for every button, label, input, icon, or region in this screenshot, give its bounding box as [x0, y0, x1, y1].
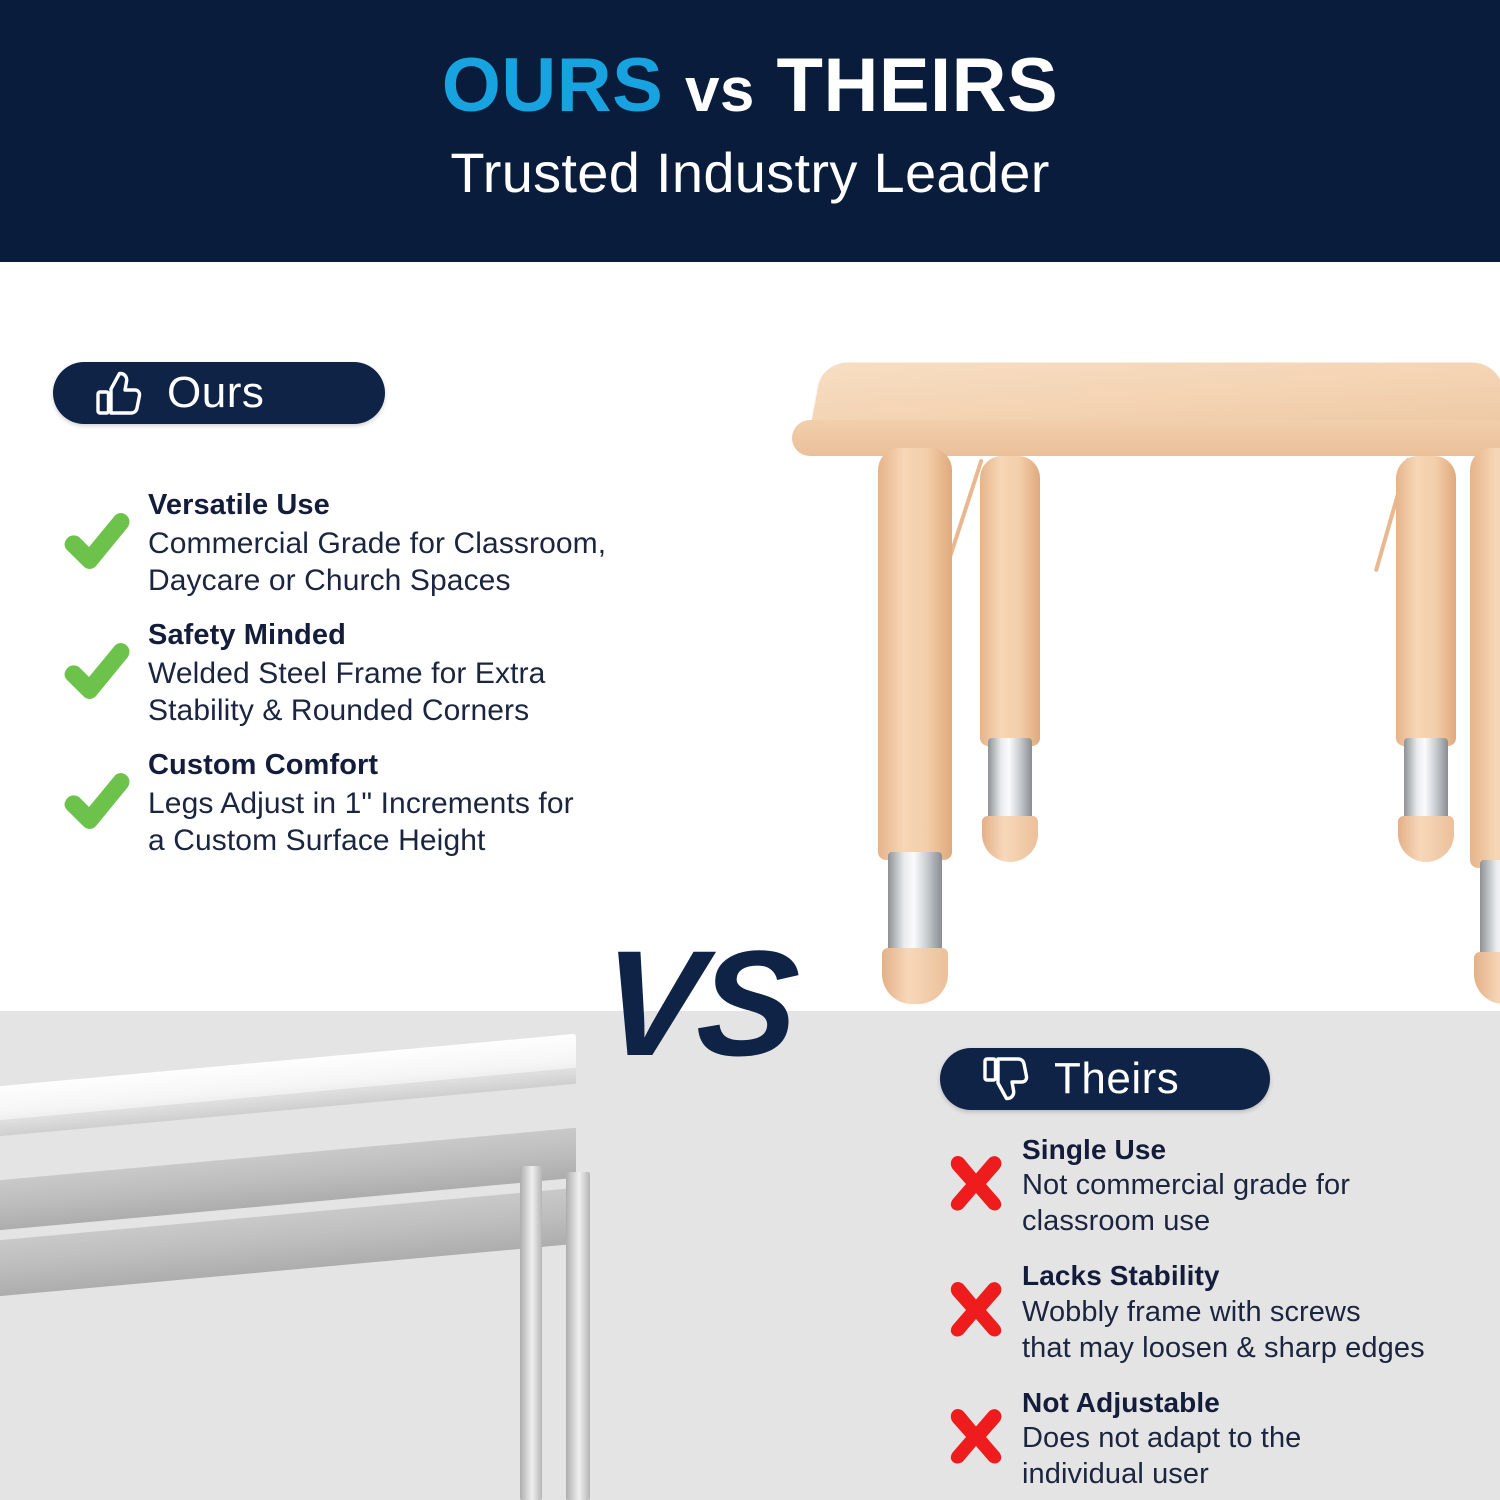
- theirs-feature-list: Single Use Not commercial grade for clas…: [930, 1132, 1490, 1500]
- ours-leg-chrome-tube: [1404, 738, 1448, 826]
- ours-leg-chrome-tube: [988, 738, 1032, 826]
- feature-desc-line: Stability & Rounded Corners: [148, 692, 708, 729]
- ours-badge[interactable]: Ours: [53, 362, 385, 424]
- feature-text: Not Adjustable Does not adapt to the ind…: [1022, 1385, 1490, 1493]
- feature-text: Safety Minded Welded Steel Frame for Ext…: [148, 617, 708, 729]
- check-icon: [48, 747, 148, 831]
- page-title: OURS vs THEIRS: [442, 48, 1059, 124]
- ours-leg-foot: [882, 948, 948, 1004]
- feature-text: Versatile Use Commercial Grade for Class…: [148, 487, 708, 599]
- theirs-product-image: white metal frame table: [0, 1070, 620, 1500]
- title-vs: vs: [685, 56, 755, 125]
- theirs-frame-leg: [566, 1172, 590, 1500]
- feature-title: Safety Minded: [148, 617, 708, 655]
- ours-leg-foot: [1474, 952, 1500, 1004]
- feature-text: Single Use Not commercial grade for clas…: [1022, 1132, 1490, 1240]
- feature-desc-line: individual user: [1022, 1457, 1490, 1493]
- ours-feature-list: Versatile Use Commercial Grade for Class…: [48, 487, 708, 877]
- feature-title: Versatile Use: [148, 487, 708, 525]
- ours-leg-foot: [1398, 816, 1454, 862]
- x-icon: [930, 1132, 1022, 1212]
- feature-title: Custom Comfort: [148, 747, 708, 785]
- feature-text: Custom Comfort Legs Adjust in 1" Increme…: [148, 747, 708, 859]
- feature-desc-line: Daycare or Church Spaces: [148, 562, 708, 599]
- feature-desc-line: that may loosen & sharp edges: [1022, 1331, 1490, 1367]
- title-theirs: THEIRS: [777, 43, 1059, 128]
- ours-leg-chrome-tube: [1480, 860, 1500, 964]
- thumbs-up-icon: [93, 369, 145, 417]
- infographic-canvas: OURS vs THEIRS Trusted Industry Leader w…: [0, 0, 1500, 1500]
- header-banner: OURS vs THEIRS Trusted Industry Leader: [0, 0, 1500, 262]
- list-item: Lacks Stability Wobbly frame with screws…: [930, 1258, 1490, 1366]
- feature-desc-line: Commercial Grade for Classroom,: [148, 525, 708, 562]
- check-icon: [48, 617, 148, 701]
- feature-title: Lacks Stability: [1022, 1258, 1490, 1294]
- feature-desc-line: classroom use: [1022, 1204, 1490, 1240]
- ours-table-leg: [980, 456, 1040, 746]
- feature-desc-line: Not commercial grade for: [1022, 1168, 1490, 1204]
- list-item: Custom Comfort Legs Adjust in 1" Increme…: [48, 747, 708, 859]
- ours-badge-label: Ours: [167, 371, 264, 415]
- feature-desc-line: a Custom Surface Height: [148, 822, 708, 859]
- list-item: Versatile Use Commercial Grade for Class…: [48, 487, 708, 599]
- feature-title: Not Adjustable: [1022, 1385, 1490, 1421]
- theirs-frame-leg: [520, 1166, 542, 1500]
- feature-desc-line: Wobbly frame with screws: [1022, 1295, 1490, 1331]
- ours-leg-foot: [982, 816, 1038, 862]
- feature-text: Lacks Stability Wobbly frame with screws…: [1022, 1258, 1490, 1366]
- feature-title: Single Use: [1022, 1132, 1490, 1168]
- ours-table-leg: [1396, 456, 1456, 746]
- list-item: Single Use Not commercial grade for clas…: [930, 1132, 1490, 1240]
- feature-desc-line: Welded Steel Frame for Extra: [148, 655, 708, 692]
- x-icon: [930, 1385, 1022, 1465]
- check-icon: [48, 487, 148, 571]
- x-icon: [930, 1258, 1022, 1338]
- feature-desc-line: Legs Adjust in 1" Increments for: [148, 785, 708, 822]
- theirs-badge-label: Theirs: [1054, 1057, 1179, 1101]
- ours-table-leg: [878, 448, 952, 860]
- title-ours: OURS: [442, 43, 664, 128]
- feature-desc-line: Does not adapt to the: [1022, 1421, 1490, 1457]
- page-subtitle: Trusted Industry Leader: [450, 140, 1049, 205]
- vs-divider-label: VS: [597, 928, 800, 1078]
- list-item: Not Adjustable Does not adapt to the ind…: [930, 1385, 1490, 1493]
- ours-product-image: wooden adjustable-height kids activity t…: [770, 352, 1500, 992]
- list-item: Safety Minded Welded Steel Frame for Ext…: [48, 617, 708, 729]
- ours-leg-chrome-tube: [888, 852, 942, 960]
- thumbs-down-icon: [980, 1055, 1032, 1103]
- theirs-badge[interactable]: Theirs: [940, 1048, 1270, 1110]
- ours-table-leg: [1470, 448, 1500, 868]
